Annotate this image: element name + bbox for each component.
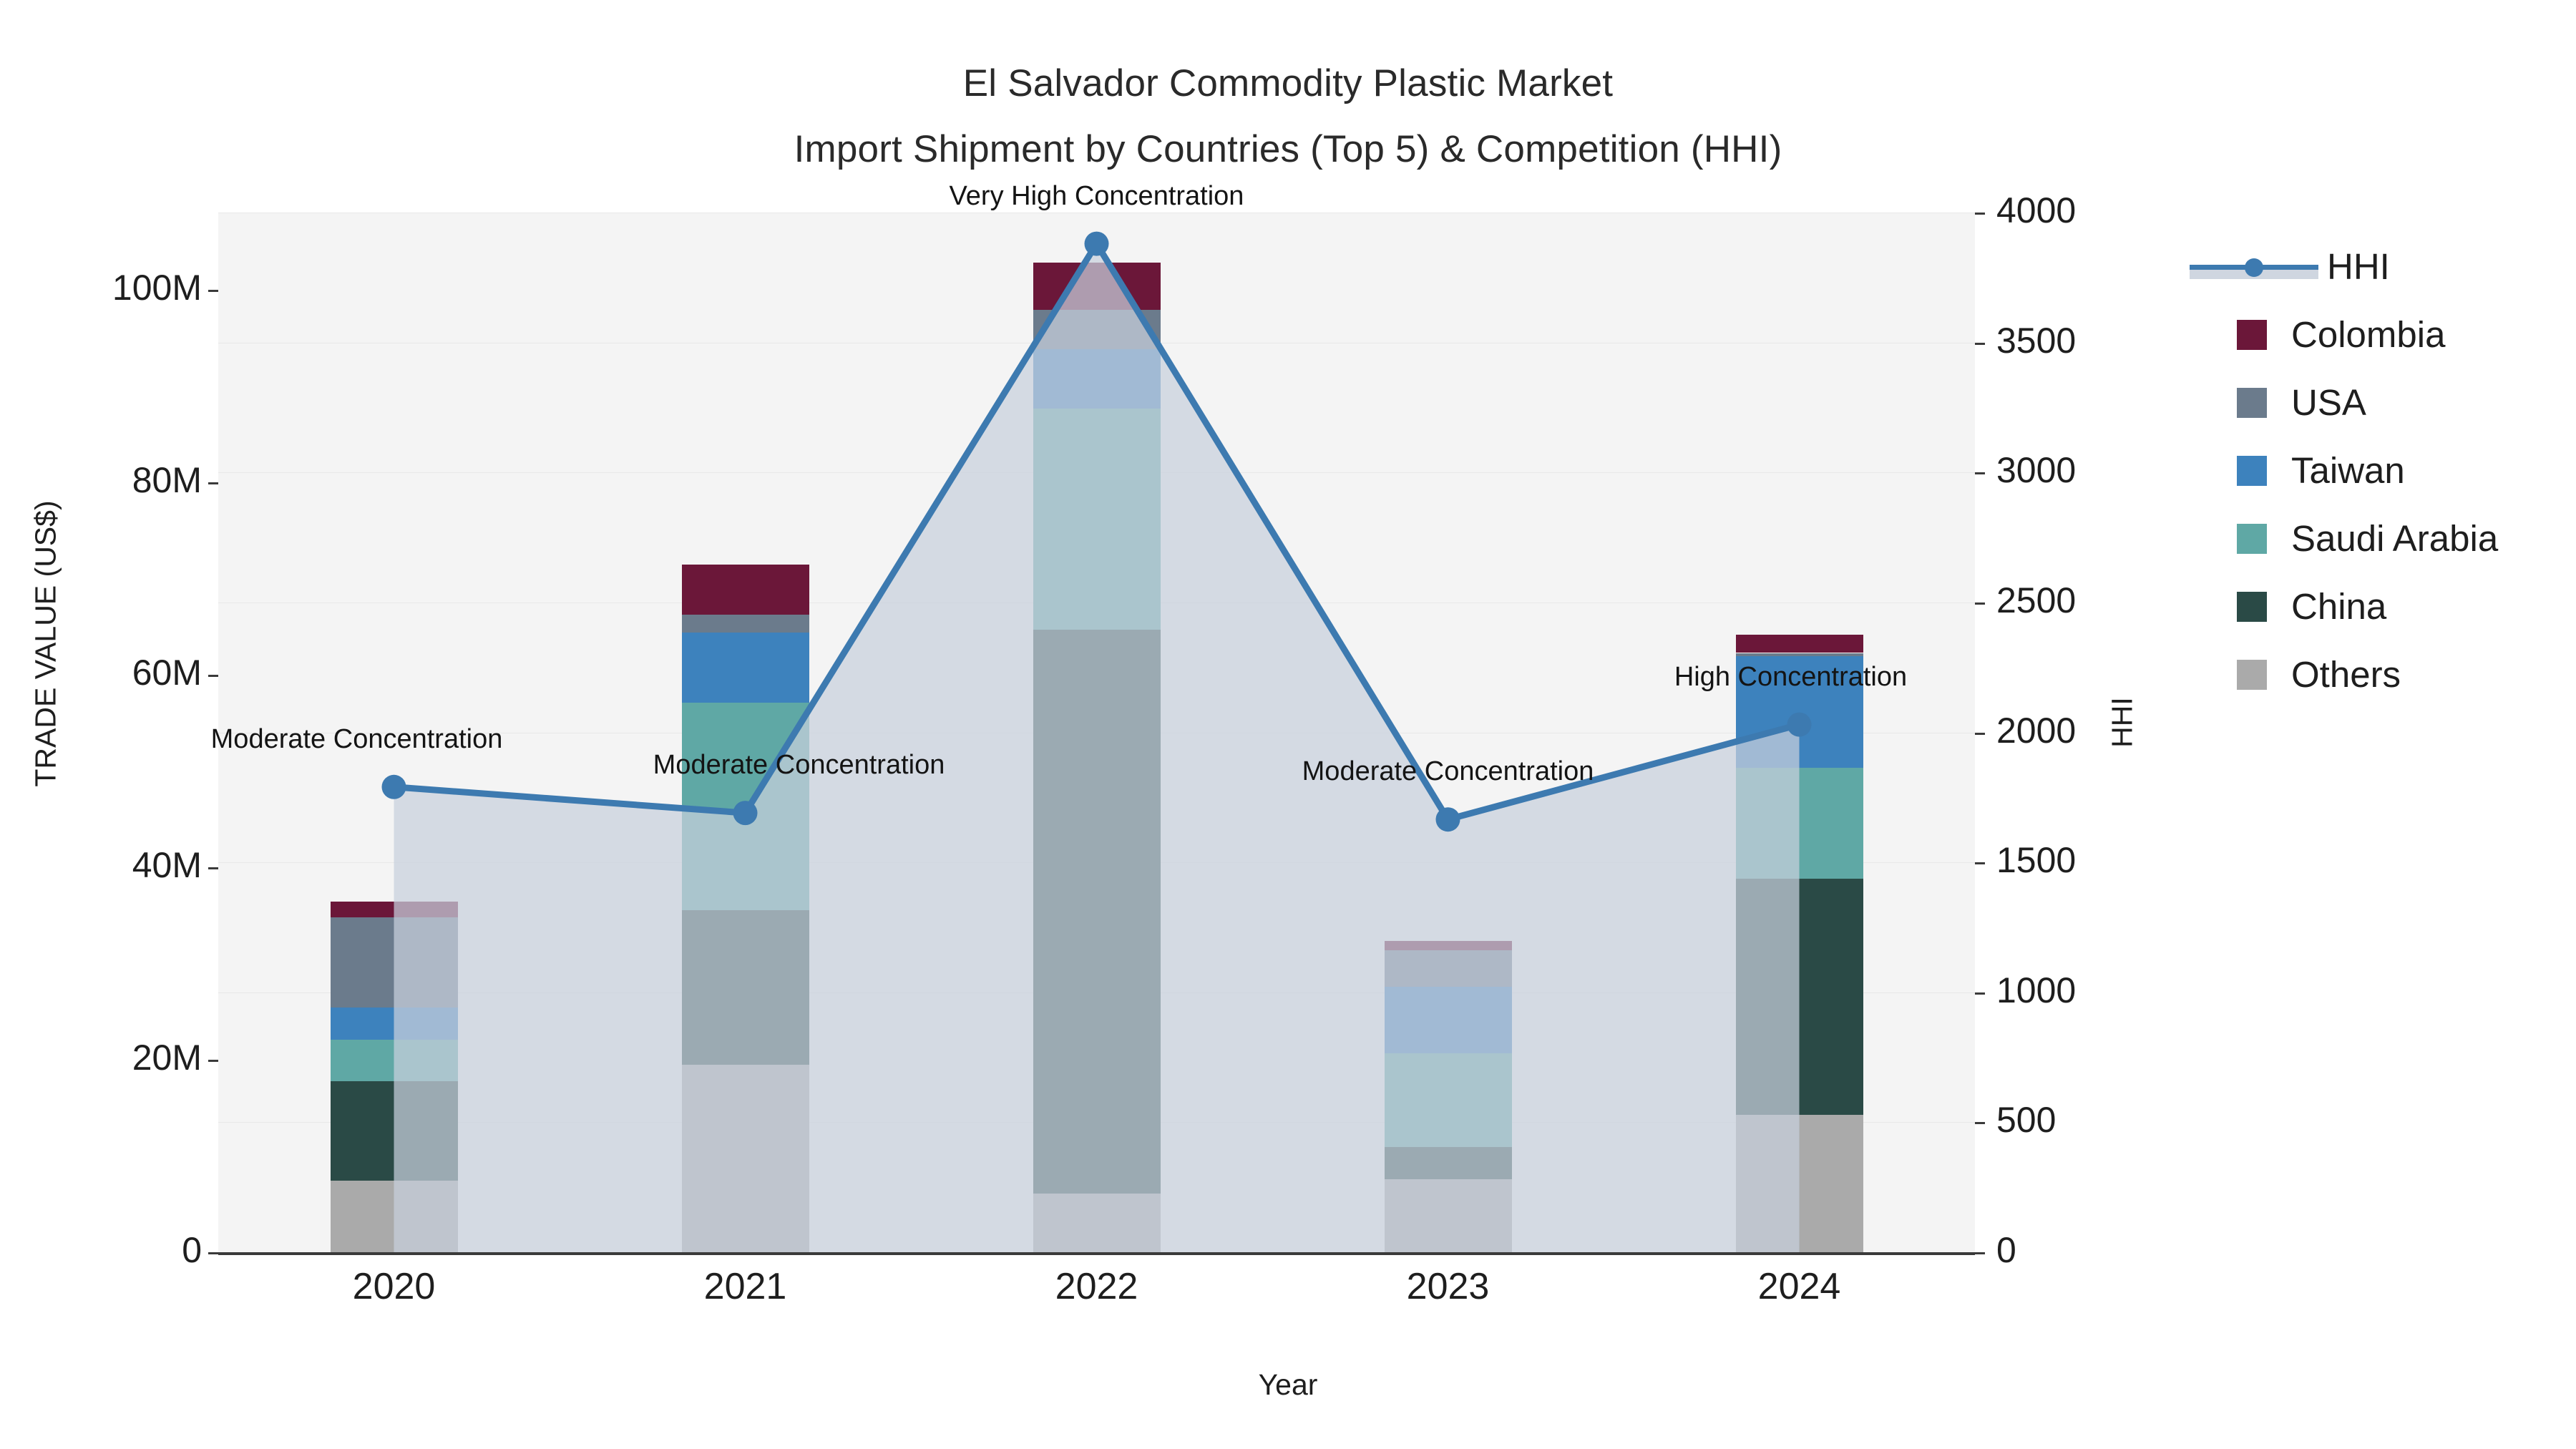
hhi-annotation: Moderate Concentration <box>211 724 503 755</box>
y-axis-left-title: TRADE VALUE (US$) <box>29 415 63 873</box>
bar-segment <box>1385 1053 1512 1148</box>
y-axis-right-tick-mark <box>1975 213 1985 215</box>
y-axis-left-tick-mark <box>208 867 218 869</box>
bar-segment <box>1736 1115 1863 1252</box>
legend-item-usa[interactable]: USA <box>2190 369 2562 436</box>
y-axis-right-tick-label: 2500 <box>1996 580 2076 621</box>
y-axis-left-tick-label: 80M <box>132 459 202 501</box>
bar-segment <box>331 917 458 1008</box>
legend-item-colombia[interactable]: Colombia <box>2190 301 2562 369</box>
bar-segment <box>1385 1179 1512 1252</box>
legend-item-china[interactable]: China <box>2190 572 2562 640</box>
y-axis-left-tick-label: 0 <box>182 1229 202 1271</box>
legend-item-others[interactable]: Others <box>2190 640 2562 708</box>
bar-segment <box>331 1040 458 1081</box>
hhi-annotation: Very High Concentration <box>950 181 1244 212</box>
bar-segment <box>1033 263 1161 310</box>
legend-line-marker <box>2245 258 2263 277</box>
legend-item-taiwan[interactable]: Taiwan <box>2190 436 2562 504</box>
y-axis-right-tick-mark <box>1975 472 1985 474</box>
y-axis-right-tick-mark <box>1975 602 1985 605</box>
legend-item-label: USA <box>2291 381 2366 424</box>
x-axis-tick-label: 2022 <box>1055 1265 1138 1308</box>
y-axis-right-tick-mark <box>1975 992 1985 995</box>
bar-segment <box>1033 1194 1161 1252</box>
x-axis-title: Year <box>0 1368 2576 1402</box>
chart-title-line1: El Salvador Commodity Plastic Market <box>0 62 2576 105</box>
bar-segment <box>1736 768 1863 879</box>
bar-segment <box>682 1065 809 1252</box>
y-axis-left-tick-mark <box>208 1060 218 1062</box>
y-axis-right-tick-label: 0 <box>1996 1229 2016 1271</box>
legend-color-swatch <box>2237 524 2267 554</box>
legend: HHIColombiaUSATaiwanSaudi ArabiaChinaOth… <box>2190 233 2562 708</box>
bar-segment <box>1385 941 1512 950</box>
y-axis-right-tick-mark <box>1975 343 1985 345</box>
legend-item-label: Saudi Arabia <box>2291 517 2498 560</box>
bar-segment <box>1033 310 1161 349</box>
x-axis-tick-label: 2023 <box>1407 1265 1490 1308</box>
x-axis-line <box>218 1252 1975 1255</box>
bar-segment <box>331 902 458 917</box>
y-axis-right-tick-label: 1000 <box>1996 970 2076 1011</box>
y-axis-right-tick-mark <box>1975 1122 1985 1124</box>
legend-line-icon <box>2190 252 2318 282</box>
legend-item-label: China <box>2291 585 2386 628</box>
bar-segment <box>1385 987 1512 1053</box>
bar-segment <box>682 633 809 703</box>
y-axis-left-tick-label: 60M <box>132 652 202 693</box>
y-axis-right-tick-mark <box>1975 733 1985 735</box>
legend-color-swatch <box>2237 456 2267 486</box>
legend-item-label: Others <box>2291 653 2401 696</box>
legend-item-label: Colombia <box>2291 313 2445 356</box>
y-axis-left-tick-mark <box>208 675 218 677</box>
bar-segment <box>1033 409 1161 629</box>
y-axis-right-tick-label: 3500 <box>1996 320 2076 361</box>
y-axis-right-title: HHI <box>2106 630 2140 816</box>
legend-item-hhi[interactable]: HHI <box>2190 233 2562 301</box>
bar-segment <box>682 565 809 615</box>
chart-title-line2: Import Shipment by Countries (Top 5) & C… <box>0 127 2576 171</box>
legend-item-saudi-arabia[interactable]: Saudi Arabia <box>2190 504 2562 572</box>
legend-color-swatch <box>2237 660 2267 690</box>
hhi-annotation: Moderate Concentration <box>1302 756 1594 787</box>
y-axis-right-tick-mark <box>1975 862 1985 864</box>
x-axis-tick-label: 2024 <box>1758 1265 1841 1308</box>
y-axis-right-tick-mark <box>1975 1252 1985 1254</box>
y-axis-right-tick-label: 1500 <box>1996 839 2076 881</box>
y-axis-right-tick-label: 500 <box>1996 1099 2056 1141</box>
legend-color-swatch <box>2237 592 2267 622</box>
bar-segment <box>682 910 809 1064</box>
bar-segment <box>1736 653 1863 657</box>
y-axis-left-tick-label: 100M <box>112 267 202 308</box>
x-axis-tick-label: 2021 <box>704 1265 787 1308</box>
legend-item-label: HHI <box>2327 245 2390 288</box>
x-axis-tick-label: 2020 <box>353 1265 436 1308</box>
bar-segment <box>331 1081 458 1181</box>
y-axis-left-tick-mark <box>208 482 218 484</box>
y-axis-right-tick-label: 4000 <box>1996 190 2076 231</box>
y-axis-left-tick-label: 40M <box>132 844 202 886</box>
chart-root: El Salvador Commodity Plastic Market Imp… <box>0 0 2576 1449</box>
gridline <box>218 213 1975 213</box>
y-axis-right-tick-label: 3000 <box>1996 449 2076 491</box>
y-axis-left-tick-mark <box>208 1252 218 1254</box>
bar-segment <box>1385 1147 1512 1179</box>
legend-color-swatch <box>2237 320 2267 350</box>
bar-segment <box>331 1008 458 1039</box>
bar-segment <box>1033 630 1161 1194</box>
bar-segment <box>682 615 809 632</box>
bar-segment <box>682 703 809 911</box>
y-axis-left-tick-mark <box>208 290 218 292</box>
bar-segment <box>331 1181 458 1252</box>
y-axis-left-tick-label: 20M <box>132 1037 202 1078</box>
legend-item-label: Taiwan <box>2291 449 2405 492</box>
y-axis-right-tick-label: 2000 <box>1996 710 2076 751</box>
bar-segment <box>1736 879 1863 1115</box>
bar-segment <box>1736 635 1863 653</box>
hhi-annotation: High Concentration <box>1674 662 1907 693</box>
bar-segment <box>1033 349 1161 409</box>
hhi-annotation: Moderate Concentration <box>653 750 945 781</box>
legend-color-swatch <box>2237 388 2267 418</box>
bar-segment <box>1385 950 1512 987</box>
